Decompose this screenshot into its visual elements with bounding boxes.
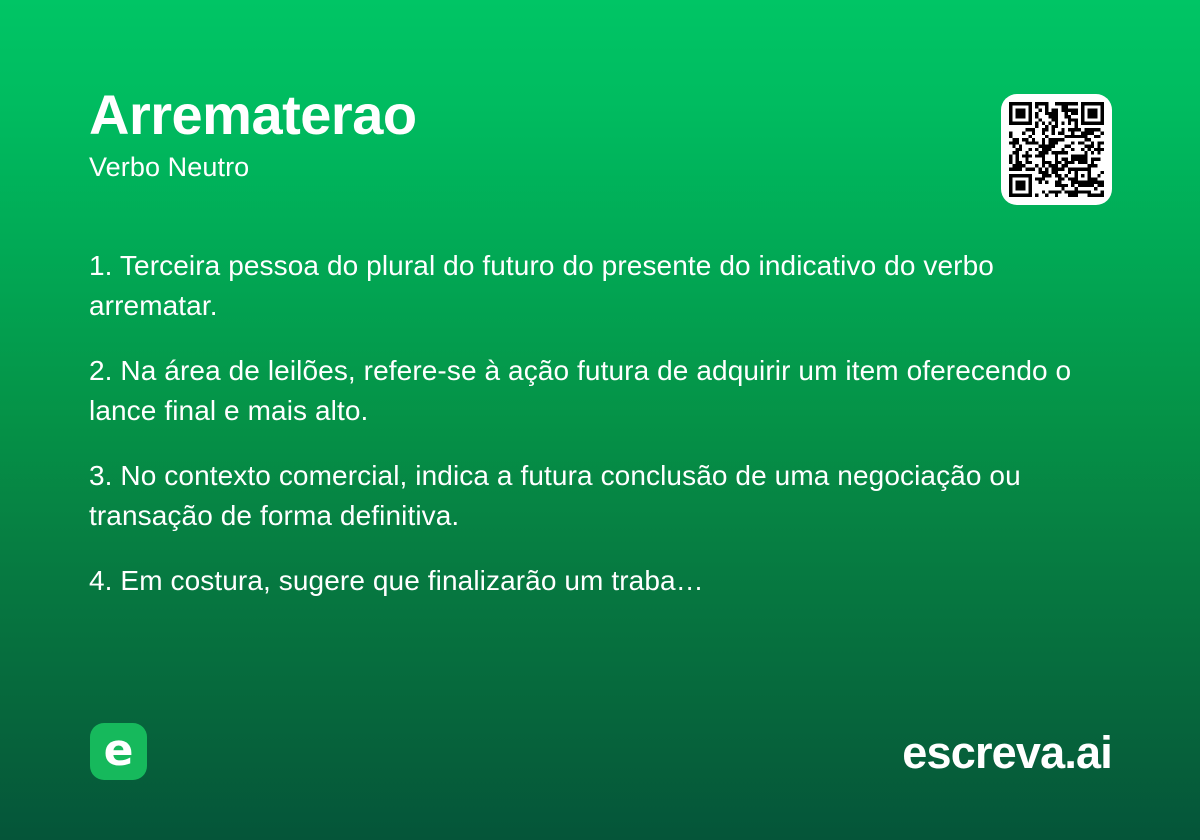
brand-wordmark: escreva.ai bbox=[902, 726, 1112, 780]
qr-code-icon[interactable] bbox=[1009, 102, 1104, 197]
logo-letter-e-icon: e bbox=[90, 723, 147, 780]
definition-list: 1. Terceira pessoa do plural do futuro d… bbox=[89, 246, 1074, 601]
definition-item: 3. No contexto comercial, indica a futur… bbox=[89, 456, 1074, 536]
qr-code-container[interactable] bbox=[1001, 94, 1112, 205]
card-header: Arremateraо Verbo Neutro bbox=[89, 86, 1120, 206]
definition-card: Arremateraо Verbo Neutro 1. Terceira pes… bbox=[0, 0, 1200, 840]
word-class-subtitle: Verbo Neutro bbox=[89, 152, 1120, 182]
page-title: Arremateraо bbox=[89, 86, 1120, 144]
definition-item: 1. Terceira pessoa do plural do futuro d… bbox=[89, 246, 1074, 326]
definition-item: 4. Em costura, sugere que finalizarão um… bbox=[89, 561, 1074, 601]
definition-item: 2. Na área de leilões, refere-se à ação … bbox=[89, 351, 1074, 431]
escreva-logo-badge[interactable]: e bbox=[90, 723, 147, 780]
